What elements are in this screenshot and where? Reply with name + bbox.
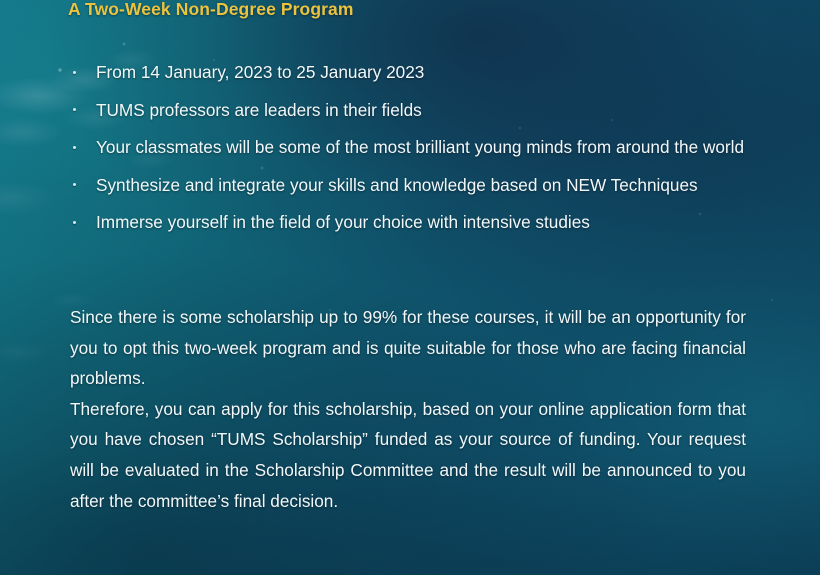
dot-bullet-icon: [73, 71, 76, 74]
slide-title: A Two-Week Non-Degree Program: [68, 0, 354, 20]
list-item-label: From 14 January, 2023 to 25 January 2023: [96, 62, 424, 82]
dot-bullet-icon: [73, 108, 76, 111]
list-item: Your classmates will be some of the most…: [70, 132, 746, 163]
list-item-label: Immerse yourself in the field of your ch…: [96, 212, 590, 232]
list-item-label: Synthesize and integrate your skills and…: [96, 175, 698, 195]
list-item: Immerse yourself in the field of your ch…: [70, 207, 746, 238]
list-item: TUMS professors are leaders in their fie…: [70, 95, 746, 126]
list-item: From 14 January, 2023 to 25 January 2023: [70, 57, 746, 88]
dot-bullet-icon: [73, 183, 76, 186]
program-highlights-list: From 14 January, 2023 to 25 January 2023…: [70, 57, 746, 238]
presentation-slide: A Two-Week Non-Degree Program From 14 Ja…: [0, 0, 820, 575]
dot-bullet-icon: [73, 146, 76, 149]
scholarship-body-text: Since there is some scholarship up to 99…: [70, 302, 746, 516]
paragraph-scholarship-availability: Since there is some scholarship up to 99…: [70, 302, 746, 394]
list-item-label: Your classmates will be some of the most…: [96, 137, 744, 157]
paragraph-application-process: Therefore, you can apply for this schola…: [70, 394, 746, 516]
list-item: Synthesize and integrate your skills and…: [70, 170, 746, 201]
list-item-label: TUMS professors are leaders in their fie…: [96, 100, 422, 120]
slide-content: A Two-Week Non-Degree Program From 14 Ja…: [0, 0, 820, 575]
dot-bullet-icon: [73, 221, 76, 224]
